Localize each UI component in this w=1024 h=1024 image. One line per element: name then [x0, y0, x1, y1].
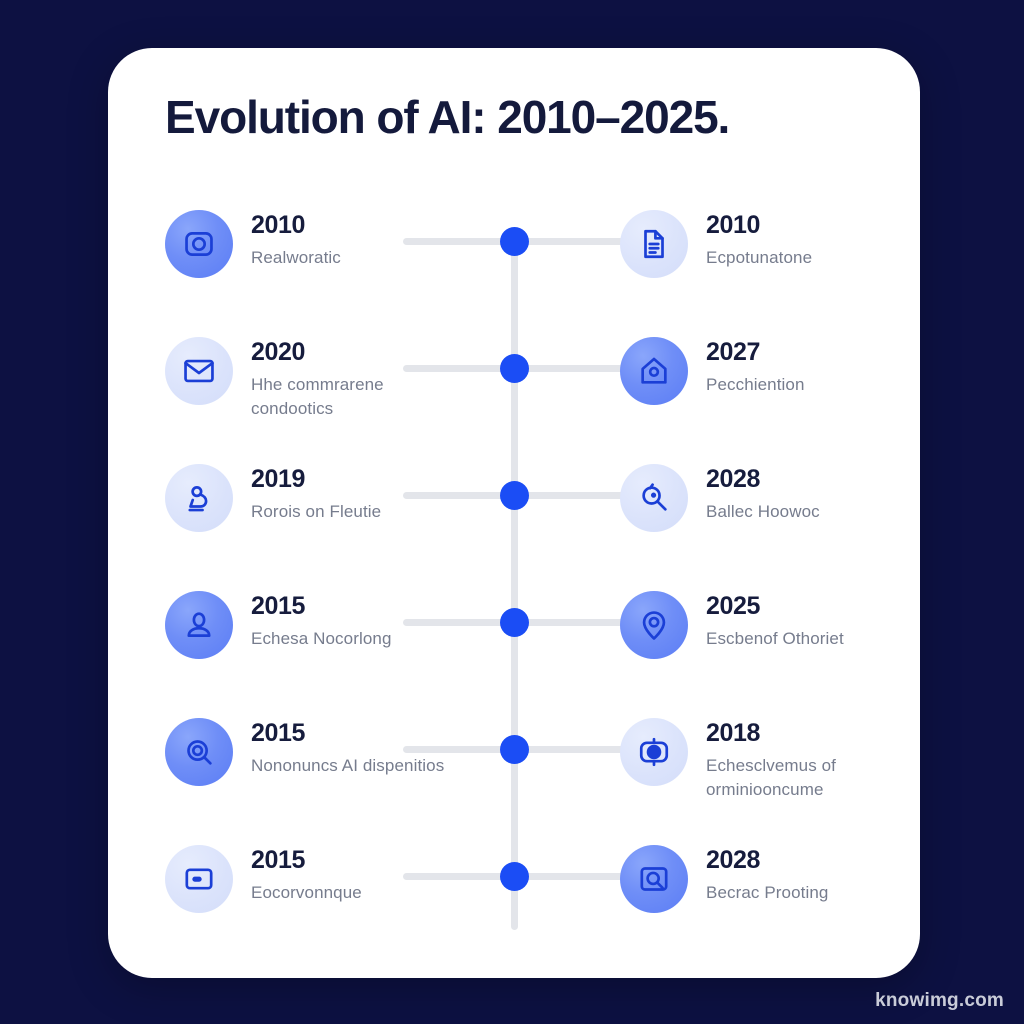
- infographic-card: Evolution of AI: 2010–2025. 2010Realwora…: [108, 48, 920, 978]
- entry-text: 2018Echesclvemus of orminiooncume: [706, 716, 920, 802]
- entry-year: 2028: [706, 466, 820, 494]
- icon-badge: [620, 591, 688, 659]
- camera-icon: [182, 227, 216, 261]
- timeline-node[interactable]: [500, 608, 529, 637]
- entry-year: 2018: [706, 720, 920, 748]
- timeline-node[interactable]: [500, 354, 529, 383]
- entry-year: 2020: [251, 339, 465, 367]
- icon-badge: [620, 845, 688, 913]
- entry-year: 2010: [706, 212, 812, 240]
- icon-badge: [620, 337, 688, 405]
- search-circle-icon: [182, 735, 216, 769]
- entry-text: 2010Realworatic: [251, 208, 341, 270]
- icon-badge: [165, 464, 233, 532]
- entry-year: 2028: [706, 847, 828, 875]
- watermark: knowimg.com: [875, 990, 1004, 1012]
- timeline-entry-right[interactable]: 2010Ecpotunatone: [620, 208, 920, 278]
- icon-badge: [165, 210, 233, 278]
- timeline-row: 2015Eocorvonnque2028Becrac Prooting: [108, 835, 920, 962]
- icon-badge: [620, 718, 688, 786]
- entry-year: 2015: [251, 720, 444, 748]
- entry-description: Ecpotunatone: [706, 246, 812, 270]
- timeline-entry-left[interactable]: 2015Echesa Nocorlong: [165, 589, 465, 659]
- timeline-node[interactable]: [500, 481, 529, 510]
- entry-year: 2027: [706, 339, 805, 367]
- entry-text: 2015Eocorvonnque: [251, 843, 362, 905]
- timeline-entry-left[interactable]: 2020Hhe commrarene condootics: [165, 335, 465, 421]
- timeline-entry-left[interactable]: 2015Nononuncs AI dispenitios: [165, 716, 465, 786]
- timeline-row: 2015Nononuncs AI dispenitios2018Echesclv…: [108, 708, 920, 835]
- map-pin-icon: [637, 608, 671, 642]
- icon-badge: [165, 718, 233, 786]
- magnifier-icon: [637, 481, 671, 515]
- timeline-entry-right[interactable]: 2027Pecchiention: [620, 335, 920, 405]
- entry-text: 2025Escbenof Othoriet: [706, 589, 844, 651]
- entry-description: Becrac Prooting: [706, 881, 828, 905]
- icon-badge: [165, 845, 233, 913]
- entry-description: Eocorvonnque: [251, 881, 362, 905]
- timeline-node[interactable]: [500, 735, 529, 764]
- icon-badge: [165, 337, 233, 405]
- entry-description: Ballec Hoowoc: [706, 500, 820, 524]
- timeline-node[interactable]: [500, 227, 529, 256]
- entry-text: 2028Becrac Prooting: [706, 843, 828, 905]
- entry-text: 2019Rorois on Fleutie: [251, 462, 381, 524]
- timeline-node[interactable]: [500, 862, 529, 891]
- icon-badge: [620, 464, 688, 532]
- entry-description: Hhe commrarene condootics: [251, 373, 465, 421]
- entry-description: Realworatic: [251, 246, 341, 270]
- entry-year: 2015: [251, 847, 362, 875]
- entry-year: 2015: [251, 593, 392, 621]
- timeline-entry-left[interactable]: 2019Rorois on Fleutie: [165, 462, 465, 532]
- timeline-rows: 2010Realworatic2010Ecpotunatone2020Hhe c…: [108, 200, 920, 962]
- timeline-entry-left[interactable]: 2010Realworatic: [165, 208, 465, 278]
- entry-year: 2019: [251, 466, 381, 494]
- timeline-entry-right[interactable]: 2028Ballec Hoowoc: [620, 462, 920, 532]
- entry-text: 2020Hhe commrarene condootics: [251, 335, 465, 421]
- timeline-entry-right[interactable]: 2018Echesclvemus of orminiooncume: [620, 716, 920, 802]
- envelope-icon: [182, 354, 216, 388]
- timeline-entry-right[interactable]: 2025Escbenof Othoriet: [620, 589, 920, 659]
- entry-year: 2010: [251, 212, 341, 240]
- target-icon: [637, 735, 671, 769]
- entry-text: 2010Ecpotunatone: [706, 208, 812, 270]
- timeline-entry-right[interactable]: 2028Becrac Prooting: [620, 843, 920, 913]
- entry-description: Echesclvemus of orminiooncume: [706, 754, 920, 802]
- page-title: Evolution of AI: 2010–2025.: [165, 90, 905, 144]
- entry-text: 2027Pecchiention: [706, 335, 805, 397]
- entry-text: 2028Ballec Hoowoc: [706, 462, 820, 524]
- entry-description: Echesa Nocorlong: [251, 627, 392, 651]
- entry-year: 2025: [706, 593, 844, 621]
- entry-description: Rorois on Fleutie: [251, 500, 381, 524]
- user-icon: [182, 608, 216, 642]
- card-icon: [182, 862, 216, 896]
- entry-text: 2015Nononuncs AI dispenitios: [251, 716, 444, 778]
- entry-description: Escbenof Othoriet: [706, 627, 844, 651]
- infographic-root: Evolution of AI: 2010–2025. 2010Realwora…: [0, 0, 1024, 1024]
- entry-text: 2015Echesa Nocorlong: [251, 589, 392, 651]
- timeline-row: 2019Rorois on Fleutie2028Ballec Hoowoc: [108, 454, 920, 581]
- home-icon: [637, 354, 671, 388]
- entry-description: Nononuncs AI dispenitios: [251, 754, 444, 778]
- timeline-row: 2020Hhe commrarene condootics2027Pecchie…: [108, 327, 920, 454]
- icon-badge: [165, 591, 233, 659]
- hand-gesture-icon: [182, 481, 216, 515]
- photo-search-icon: [637, 862, 671, 896]
- timeline-row: 2010Realworatic2010Ecpotunatone: [108, 200, 920, 327]
- document-icon: [637, 227, 671, 261]
- timeline-entry-left[interactable]: 2015Eocorvonnque: [165, 843, 465, 913]
- timeline-row: 2015Echesa Nocorlong2025Escbenof Othorie…: [108, 581, 920, 708]
- entry-description: Pecchiention: [706, 373, 805, 397]
- icon-badge: [620, 210, 688, 278]
